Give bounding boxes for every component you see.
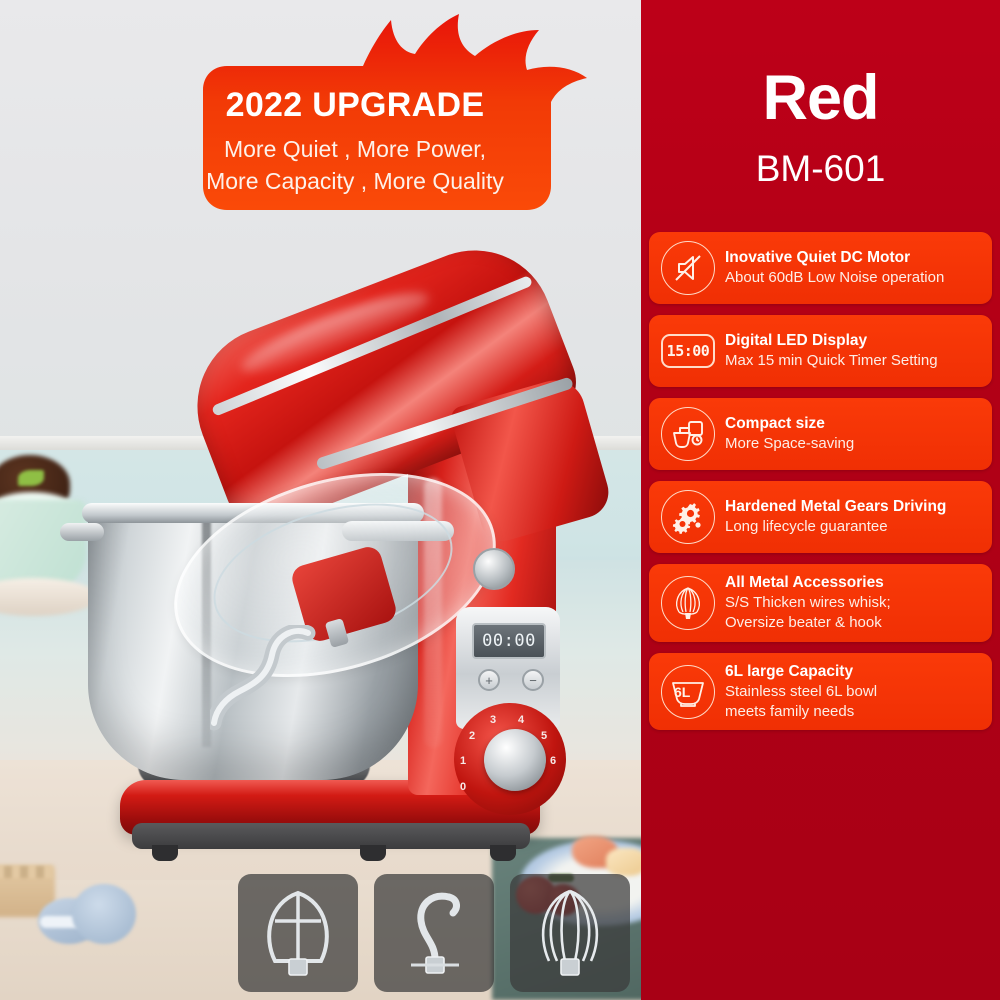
feature-title: Compact size bbox=[725, 414, 982, 434]
led-timer-icon: 15:00 bbox=[661, 324, 715, 378]
feature-desc: S/S Thicken wires whisk; bbox=[725, 593, 982, 613]
timer-decrease-button[interactable]: − bbox=[522, 669, 544, 691]
feature-row-compact-size[interactable]: Compact size More Space-saving bbox=[649, 398, 992, 470]
bowl-handle-left bbox=[60, 523, 104, 541]
mixer-foot bbox=[360, 845, 386, 861]
feature-desc-2: meets family needs bbox=[725, 702, 982, 722]
accessory-wire-whisk bbox=[510, 874, 630, 992]
feature-title: Hardened Metal Gears Driving bbox=[725, 497, 982, 517]
lcd-timer-value: 00:00 bbox=[482, 631, 536, 651]
product-marketing-image: 00:00 + − 0 1 2 3 4 5 6 bbox=[0, 0, 1000, 1000]
feature-row-quiet-motor[interactable]: Inovative Quiet DC Motor About 60dB Low … bbox=[649, 232, 992, 304]
speed-dial-label-1: 1 bbox=[460, 755, 466, 767]
feature-title: Digital LED Display bbox=[725, 331, 982, 351]
speed-dial-knob[interactable] bbox=[484, 729, 546, 791]
head-lock-knob[interactable] bbox=[473, 548, 515, 590]
mixer-foot bbox=[152, 845, 178, 861]
feature-desc: Max 15 min Quick Timer Setting bbox=[725, 351, 982, 371]
speed-dial-label-6: 6 bbox=[550, 755, 556, 767]
stand-mixer-icon bbox=[661, 407, 715, 461]
badge-title: 2022 UPGRADE bbox=[175, 86, 535, 125]
spec-panel: Red BM-601 Inovative Quiet DC Motor Abou… bbox=[641, 0, 1000, 1000]
dessert-mint-leaf bbox=[18, 470, 44, 486]
badge-subtitle-line-1: More Quiet , More Power, bbox=[175, 136, 535, 163]
feature-row-capacity[interactable]: 6L 6L large Capacity Stainless steel 6L … bbox=[649, 653, 992, 731]
mixer-base-underside bbox=[132, 823, 530, 849]
speed-dial-label-0: 0 bbox=[460, 781, 466, 793]
feature-desc-2: Oversize beater & hook bbox=[725, 613, 982, 633]
upgrade-badge: 2022 UPGRADE More Quiet , More Power, Mo… bbox=[175, 8, 595, 220]
feature-row-metal-accessories[interactable]: All Metal Accessories S/S Thicken wires … bbox=[649, 564, 992, 642]
feature-desc: More Space-saving bbox=[725, 434, 982, 454]
feature-list: Inovative Quiet DC Motor About 60dB Low … bbox=[641, 232, 1000, 741]
speed-dial-label-5: 5 bbox=[541, 730, 547, 742]
timer-increase-button[interactable]: + bbox=[478, 669, 500, 691]
badge-subtitle-line-2: More Capacity , More Quality bbox=[175, 168, 535, 195]
macaron-right bbox=[72, 884, 136, 944]
speed-dial-label-4: 4 bbox=[518, 714, 524, 726]
feature-desc: Long lifecycle guarantee bbox=[725, 517, 982, 537]
feature-title: Inovative Quiet DC Motor bbox=[725, 248, 982, 268]
speed-dial-label-2: 2 bbox=[469, 730, 475, 742]
product-color-title: Red bbox=[641, 62, 1000, 134]
bowl-capacity-label: 6L bbox=[674, 684, 690, 700]
accessory-dough-hook bbox=[374, 874, 494, 992]
accessory-flat-beater bbox=[238, 874, 358, 992]
feature-title: All Metal Accessories bbox=[725, 573, 982, 593]
feature-title: 6L large Capacity bbox=[725, 662, 982, 682]
lcd-display: 00:00 bbox=[472, 623, 546, 659]
wooden-board-notches bbox=[0, 866, 52, 878]
feature-row-led-display[interactable]: 15:00 Digital LED Display Max 15 min Qui… bbox=[649, 315, 992, 387]
feature-desc: Stainless steel 6L bowl bbox=[725, 682, 982, 702]
bowl-icon: 6L bbox=[661, 665, 715, 719]
led-timer-value: 15:00 bbox=[667, 342, 710, 360]
stand-mixer-product: 00:00 + − 0 1 2 3 4 5 6 bbox=[60, 225, 640, 865]
whisk-icon bbox=[661, 576, 715, 630]
speed-dial-label-3: 3 bbox=[490, 714, 496, 726]
mute-speaker-icon bbox=[661, 241, 715, 295]
gears-icon bbox=[661, 490, 715, 544]
dough-hook-attachment bbox=[210, 625, 340, 745]
product-model-number: BM-601 bbox=[641, 148, 1000, 190]
mixer-foot bbox=[490, 845, 516, 861]
accessory-thumbnails bbox=[238, 874, 630, 992]
feature-row-metal-gears[interactable]: Hardened Metal Gears Driving Long lifecy… bbox=[649, 481, 992, 553]
feature-desc: About 60dB Low Noise operation bbox=[725, 268, 982, 288]
